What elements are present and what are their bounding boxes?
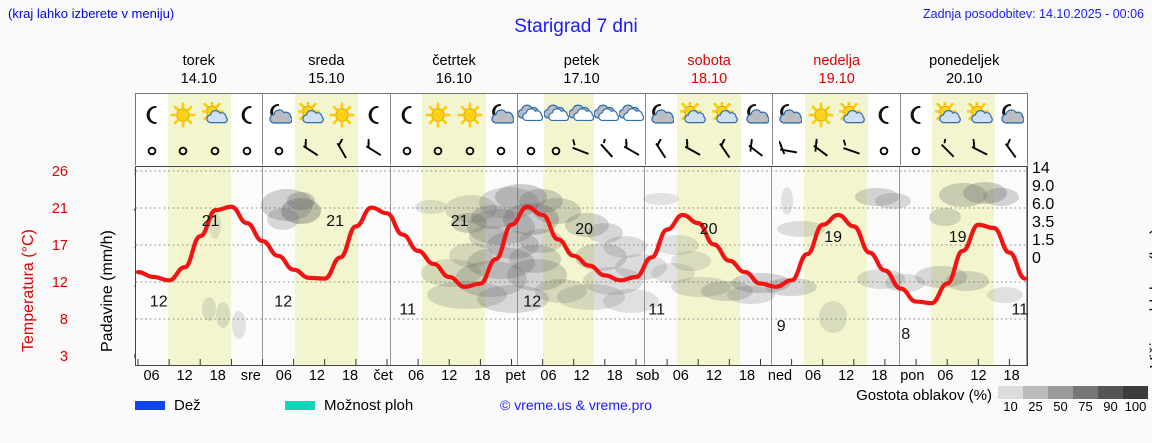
sun-cloud-icon — [836, 95, 868, 135]
svg-text:8: 8 — [901, 326, 910, 343]
wind-barb-icon — [199, 135, 231, 165]
wind-barb-icon — [773, 135, 805, 165]
wind-barb-icon — [391, 135, 423, 165]
svg-text:11: 11 — [399, 302, 416, 319]
moon-icon — [358, 95, 390, 135]
forecast-plot: 1221122111211220112091981911 — [135, 166, 1028, 366]
wind-barb-icon — [741, 135, 773, 165]
wind-barb-icon — [327, 135, 359, 165]
x-tick-label: 06 — [797, 366, 830, 388]
day-name: četrtek — [390, 52, 518, 70]
axis-tick: 8 — [34, 313, 68, 327]
forecast-slot — [327, 94, 359, 165]
day-header-sobota: sobota18.10 — [645, 52, 773, 92]
wind-barb-icon — [295, 135, 327, 165]
axis-tick: 12 — [34, 276, 68, 290]
axis-tick: 1.5 — [1032, 232, 1074, 250]
temperature-axis-ticks: 2621171283 — [34, 160, 68, 370]
x-tick-label: 12 — [565, 366, 598, 388]
x-tick-label: 18 — [333, 366, 366, 388]
forecast-slot — [263, 94, 295, 165]
day-header-ponedeljek: ponedeljek20.10 — [900, 52, 1028, 92]
icon-day-column-torek — [136, 94, 263, 165]
cloud-density-ramp: 1025507590100 — [998, 386, 1148, 414]
moon-icon — [231, 95, 263, 135]
cloud-density-ramp-colors — [998, 386, 1148, 399]
forecast-slot — [646, 94, 678, 165]
svg-text:20: 20 — [575, 221, 593, 238]
icon-day-column-sreda — [263, 94, 390, 165]
svg-text:21: 21 — [202, 213, 220, 230]
forecast-slot — [199, 94, 231, 165]
moon-cloud-icon — [995, 95, 1027, 135]
x-tick-label: 06 — [929, 366, 962, 388]
cloud-density-swatch — [1123, 386, 1148, 399]
wind-barb-icon — [901, 135, 933, 165]
day-header-torek: torek14.10 — [135, 52, 263, 92]
axis-tick: 21 — [34, 202, 68, 216]
cloud-density-ramp-numbers: 1025507590100 — [998, 399, 1148, 414]
day-date: 17.10 — [518, 70, 646, 88]
forecast-slot — [486, 94, 518, 165]
cloud-density-step-label: 90 — [1098, 399, 1123, 414]
day-name: nedelja — [773, 52, 901, 70]
day-name: sobota — [645, 52, 773, 70]
wind-barb-icon — [932, 135, 964, 165]
cloud-icon — [544, 95, 569, 135]
wind-barb-icon — [168, 135, 200, 165]
wind-barb-icon — [646, 135, 678, 165]
x-tick-label: 12 — [697, 366, 730, 388]
forecast-slot — [964, 94, 996, 165]
sun-cloud-icon — [964, 95, 996, 135]
forecast-slot — [518, 94, 543, 165]
x-tick-label: 12 — [300, 366, 333, 388]
rain-color-swatch — [135, 401, 165, 410]
icon-day-column-ponedeljek — [901, 94, 1027, 165]
cloud-density-legend: Gostota oblakov (%) 1025507590100 — [856, 386, 1148, 414]
cloud-density-swatch — [1023, 386, 1048, 399]
icon-day-column-sobota — [646, 94, 773, 165]
sun-cloud-icon — [932, 95, 964, 135]
x-tick-label: 18 — [863, 366, 896, 388]
x-tick-label: 06 — [135, 366, 168, 388]
svg-text:12: 12 — [150, 293, 168, 310]
legend-item-rain: Dež — [135, 397, 285, 414]
forecast-slot — [901, 94, 933, 165]
cloud-density-step-label: 75 — [1073, 399, 1098, 414]
cloud-icon — [619, 95, 644, 135]
sun-cloud-icon — [199, 95, 231, 135]
axis-tick: 3 — [34, 350, 68, 364]
wind-barb-icon — [231, 135, 263, 165]
day-name: petek — [518, 52, 646, 70]
axis-tick: 9.0 — [1032, 178, 1074, 196]
svg-text:9: 9 — [777, 318, 786, 335]
day-name: ponedeljek — [900, 52, 1028, 70]
cloud-height-axis-ticks: 149.06.03.51.50 — [1032, 160, 1074, 370]
forecast-slot — [932, 94, 964, 165]
cloud-icon — [569, 95, 594, 135]
axis-tick: 6.0 — [1032, 196, 1074, 214]
x-tick-label: ned — [763, 366, 796, 388]
x-tick-label: 12 — [830, 366, 863, 388]
day-header-petek: petek17.10 — [518, 52, 646, 92]
cloud-density-swatch — [1098, 386, 1123, 399]
moon-icon — [868, 95, 900, 135]
x-tick-label: 06 — [532, 366, 565, 388]
x-tick-label: sob — [631, 366, 664, 388]
cloud-density-swatch — [998, 386, 1023, 399]
wind-barb-icon — [569, 135, 594, 165]
day-name: torek — [135, 52, 263, 70]
icon-day-column-četrtek — [391, 94, 518, 165]
svg-text:11: 11 — [1011, 302, 1027, 319]
wind-barb-icon — [486, 135, 518, 165]
day-header-row: torek14.10sreda15.10četrtek16.10petek17.… — [135, 52, 1028, 92]
wind-barb-icon — [518, 135, 543, 165]
forecast-slot — [168, 94, 200, 165]
wind-barb-icon — [964, 135, 996, 165]
forecast-slot — [836, 94, 868, 165]
icon-day-column-nedelja — [773, 94, 900, 165]
x-tick-label: čet — [367, 366, 400, 388]
sun-cloud-icon — [295, 95, 327, 135]
cloud-density-step-label: 25 — [1023, 399, 1048, 414]
svg-text:11: 11 — [648, 302, 665, 319]
cloud-density-step-label: 100 — [1123, 399, 1148, 414]
showers-color-swatch — [285, 401, 315, 410]
legend-item-showers: Možnost ploh — [285, 397, 500, 414]
wind-barb-icon — [619, 135, 644, 165]
cloud-density-step-label: 50 — [1048, 399, 1073, 414]
legend-label-rain: Dež — [174, 397, 201, 414]
sun-icon — [327, 95, 359, 135]
wind-barb-icon — [709, 135, 741, 165]
forecast-slot — [391, 94, 423, 165]
day-name: sreda — [263, 52, 391, 70]
sun-icon — [168, 95, 200, 135]
cloud-density-swatch — [1073, 386, 1098, 399]
wind-barb-icon — [594, 135, 619, 165]
forecast-slot — [709, 94, 741, 165]
forecast-slot — [231, 94, 263, 165]
day-date: 15.10 — [263, 70, 391, 88]
day-date: 14.10 — [135, 70, 263, 88]
moon-icon — [901, 95, 933, 135]
x-tick-label: 12 — [168, 366, 201, 388]
forecast-slot — [454, 94, 486, 165]
sun-icon — [422, 95, 454, 135]
x-tick-label: pet — [499, 366, 532, 388]
forecast-slot — [868, 94, 900, 165]
wind-barb-icon — [805, 135, 837, 165]
wind-barb-icon — [358, 135, 390, 165]
moon-cloud-icon — [646, 95, 678, 135]
wind-barb-icon — [868, 135, 900, 165]
axis-tick: 3.5 — [1032, 214, 1074, 232]
sun-icon — [805, 95, 837, 135]
forecast-slot — [422, 94, 454, 165]
moon-icon — [136, 95, 168, 135]
wind-barb-icon — [995, 135, 1027, 165]
cloud-density-swatch — [1048, 386, 1073, 399]
x-tick-label: 18 — [995, 366, 1028, 388]
wind-barb-icon — [836, 135, 868, 165]
x-tick-label: 12 — [433, 366, 466, 388]
icon-day-column-petek — [518, 94, 645, 165]
day-date: 16.10 — [390, 70, 518, 88]
x-tick-label: pon — [896, 366, 929, 388]
svg-text:12: 12 — [523, 293, 541, 310]
plot-graphics: 1221122111211220112091981911 — [136, 167, 1027, 365]
weather-icon-band — [135, 93, 1028, 165]
x-axis-tick-labels: 061218sre061218čet061218pet061218sob0612… — [135, 366, 1028, 388]
cloud-density-step-label: 10 — [998, 399, 1023, 414]
moon-cloud-icon — [263, 95, 295, 135]
axis-tick: 17 — [34, 239, 68, 253]
svg-text:21: 21 — [326, 213, 344, 230]
forecast-slot — [594, 94, 619, 165]
x-tick-label: 06 — [267, 366, 300, 388]
day-header-četrtek: četrtek16.10 — [390, 52, 518, 92]
cloud-icon — [518, 95, 543, 135]
legend-credit[interactable]: © vreme.us & vreme.pro — [500, 397, 652, 413]
day-date: 18.10 — [645, 70, 773, 88]
wind-barb-icon — [263, 135, 295, 165]
svg-text:19: 19 — [824, 229, 842, 246]
x-tick-label: 06 — [400, 366, 433, 388]
forecast-slot — [773, 94, 805, 165]
cloud-height-axis-title: Višina oblakov (km) — [1148, 229, 1152, 368]
axis-tick: 26 — [34, 165, 68, 179]
x-tick-label: 18 — [730, 366, 763, 388]
sun-cloud-icon — [709, 95, 741, 135]
sun-icon — [454, 95, 486, 135]
axis-tick: 14 — [1032, 160, 1074, 178]
x-tick-label: sre — [234, 366, 267, 388]
day-header-sreda: sreda15.10 — [263, 52, 391, 92]
forecast-slot — [136, 94, 168, 165]
cloud-density-legend-label: Gostota oblakov (%) — [856, 386, 992, 406]
svg-text:21: 21 — [451, 213, 469, 230]
forecast-slot — [677, 94, 709, 165]
cloud-icon — [594, 95, 619, 135]
moon-cloud-icon — [486, 95, 518, 135]
wind-barb-icon — [422, 135, 454, 165]
moon-icon — [391, 95, 423, 135]
wind-barb-icon — [544, 135, 569, 165]
svg-text:12: 12 — [274, 293, 292, 310]
forecast-slot — [619, 94, 644, 165]
x-tick-label: 06 — [664, 366, 697, 388]
forecast-slot — [995, 94, 1027, 165]
last-update-label: Zadnja posodobitev: 14.10.2025 - 00:06 — [923, 7, 1144, 21]
day-date: 20.10 — [900, 70, 1028, 88]
forecast-slot — [805, 94, 837, 165]
forecast-slot — [358, 94, 390, 165]
x-tick-label: 12 — [962, 366, 995, 388]
svg-text:20: 20 — [700, 221, 718, 238]
day-header-nedelja: nedelja19.10 — [773, 52, 901, 92]
x-tick-label: 18 — [201, 366, 234, 388]
wind-barb-icon — [677, 135, 709, 165]
forecast-slot — [295, 94, 327, 165]
forecast-slot — [544, 94, 569, 165]
forecast-slot — [741, 94, 773, 165]
axis-tick: 0 — [1032, 250, 1074, 268]
x-tick-label: 18 — [598, 366, 631, 388]
x-tick-label: 18 — [466, 366, 499, 388]
wind-barb-icon — [454, 135, 486, 165]
svg-text:19: 19 — [949, 229, 967, 246]
moon-cloud-icon — [773, 95, 805, 135]
moon-cloud-icon — [741, 95, 773, 135]
forecast-slot — [569, 94, 594, 165]
legend-label-showers: Možnost ploh — [324, 397, 413, 414]
day-date: 19.10 — [773, 70, 901, 88]
sun-cloud-icon — [677, 95, 709, 135]
